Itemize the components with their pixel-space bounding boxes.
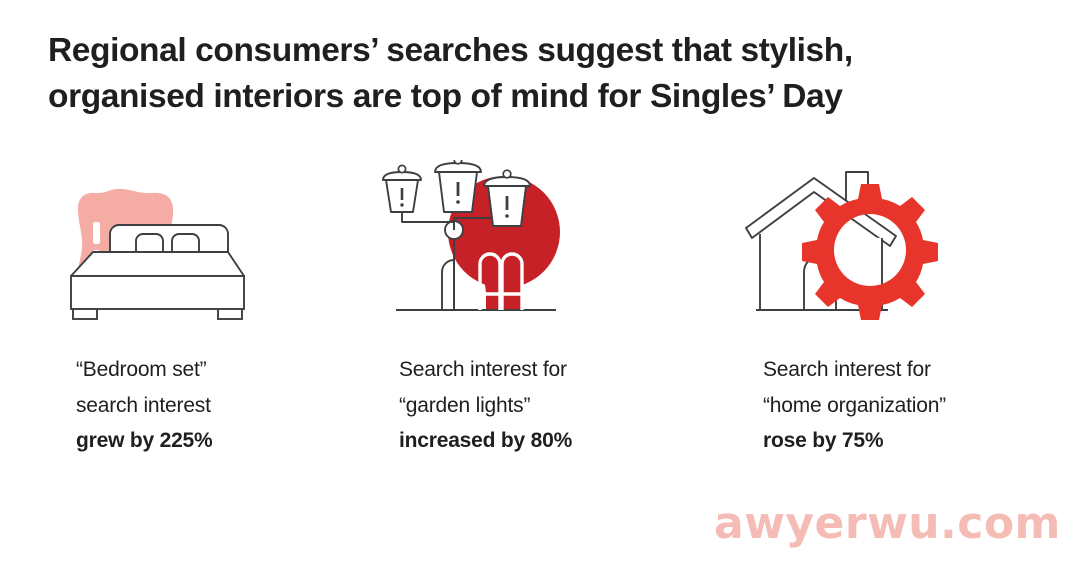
caption-metric: increased by 80% (399, 423, 572, 459)
stat-column-home-organization: Search interest for “home organization” … (738, 160, 1068, 460)
stat-columns: “Bedroom set” search interest grew by 22… (0, 160, 1080, 460)
stat-column-garden-lights: Search interest for “garden lights” incr… (380, 160, 710, 460)
caption-line-1: Search interest for (399, 352, 572, 388)
stat-caption-garden-lights: Search interest for “garden lights” incr… (399, 352, 572, 459)
caption-metric: grew by 225% (76, 423, 213, 459)
page-title: Regional consumers’ searches suggest tha… (48, 28, 1008, 120)
bed-pillow-right (172, 234, 199, 252)
bed-illustration (48, 160, 378, 335)
house-with-gear-illustration (738, 160, 1068, 335)
bed-base (71, 276, 244, 309)
caption-line-1: Search interest for (763, 352, 946, 388)
bed-pillow-left (136, 234, 163, 252)
stat-column-bedroom-set: “Bedroom set” search interest grew by 22… (48, 160, 378, 460)
caption-line-2: “home organization” (763, 388, 946, 424)
watermark: awyerwu.com (714, 500, 1061, 548)
garden-lamp-post-illustration (380, 160, 710, 335)
infographic-canvas: Regional consumers’ searches suggest tha… (0, 0, 1080, 565)
stat-caption-bedroom-set: “Bedroom set” search interest grew by 22… (76, 352, 213, 459)
bed-leg-right (218, 309, 242, 319)
bed-leg-left (73, 309, 97, 319)
lantern-left (383, 165, 421, 212)
lamp-post-base (442, 260, 454, 310)
headline-line-2: organised interiors are top of mind for … (48, 74, 1008, 120)
headline-line-1: Regional consumers’ searches suggest tha… (48, 28, 1008, 74)
caption-metric: rose by 75% (763, 423, 946, 459)
bed-blob-mark-stem (93, 222, 100, 244)
stat-caption-home-organization: Search interest for “home organization” … (763, 352, 946, 459)
bed-mattress (71, 252, 244, 276)
caption-line-2: search interest (76, 388, 213, 424)
caption-line-2: “garden lights” (399, 388, 572, 424)
caption-line-1: “Bedroom set” (76, 352, 213, 388)
